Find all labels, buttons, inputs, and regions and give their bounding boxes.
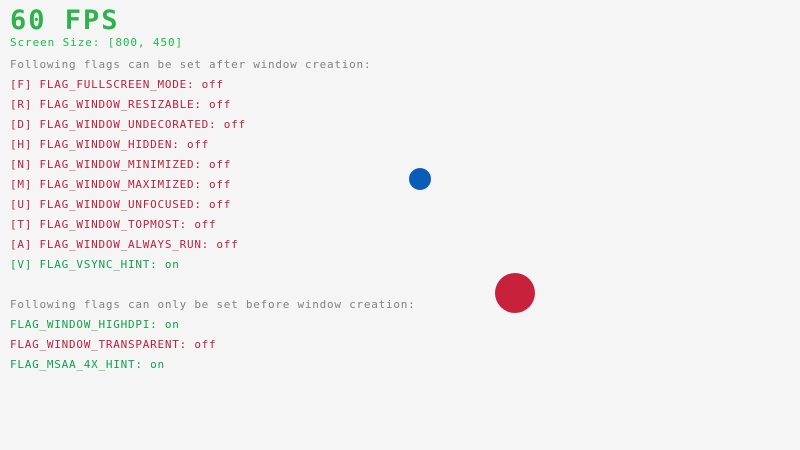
flag-row-window-resizable[interactable]: [R] FLAG_WINDOW_RESIZABLE: off (10, 99, 231, 110)
heading-flags-after-creation: Following flags can be set after window … (10, 59, 371, 70)
flag-row-fullscreen-mode[interactable]: [F] FLAG_FULLSCREEN_MODE: off (10, 79, 224, 90)
fps-counter: 60 FPS (10, 7, 120, 34)
flag-row-window-hidden[interactable]: [H] FLAG_WINDOW_HIDDEN: off (10, 139, 209, 150)
flag-row-window-undecorated[interactable]: [D] FLAG_WINDOW_UNDECORATED: off (10, 119, 246, 130)
heading-flags-before-creation: Following flags can only be set before w… (10, 299, 416, 310)
screen-size-label: Screen Size: [800, 450] (10, 37, 183, 48)
flag-row-msaa-4x-hint: FLAG_MSAA_4X_HINT: on (10, 359, 165, 370)
flag-row-window-minimized[interactable]: [N] FLAG_WINDOW_MINIMIZED: off (10, 159, 231, 170)
flag-row-window-highdpi: FLAG_WINDOW_HIGHDPI: on (10, 319, 180, 330)
flag-row-window-unfocused[interactable]: [U] FLAG_WINDOW_UNFOCUSED: off (10, 199, 231, 210)
flag-row-window-always-run[interactable]: [A] FLAG_WINDOW_ALWAYS_RUN: off (10, 239, 239, 250)
red-ball-icon (495, 273, 535, 313)
flag-row-window-topmost[interactable]: [T] FLAG_WINDOW_TOPMOST: off (10, 219, 216, 230)
raylib-window-canvas[interactable]: 60 FPS Screen Size: [800, 450] Following… (0, 0, 800, 450)
blue-ball-icon (409, 168, 431, 190)
flag-row-window-maximized[interactable]: [M] FLAG_WINDOW_MAXIMIZED: off (10, 179, 231, 190)
flag-row-vsync-hint[interactable]: [V] FLAG_VSYNC_HINT: on (10, 259, 180, 270)
flag-row-window-transparent: FLAG_WINDOW_TRANSPARENT: off (10, 339, 216, 350)
